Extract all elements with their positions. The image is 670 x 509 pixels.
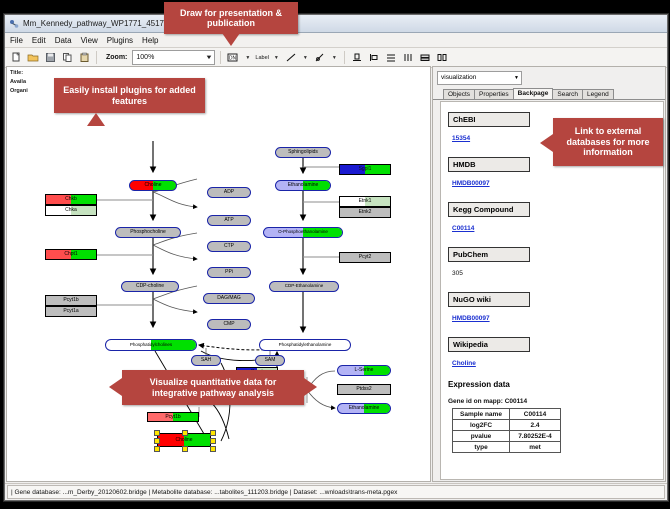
section-pubchem-title: PubChem	[448, 247, 530, 262]
tab-search[interactable]: Search	[552, 89, 583, 99]
menu-item-plugins[interactable]: Plugins	[107, 36, 133, 45]
label-tool-label[interactable]: Label	[255, 55, 268, 61]
zoom-label: Zoom:	[106, 54, 127, 61]
resize-handle-nw[interactable]	[154, 430, 160, 436]
expression-table: Sample name C00114 log2FC 2.4 pvalue 7.8…	[452, 408, 561, 453]
menu-item-file[interactable]: File	[10, 36, 23, 45]
node-etnk1[interactable]: Etnk1	[339, 196, 391, 207]
section-hmdb-title: HMDB	[448, 157, 530, 172]
node-cmp[interactable]: CMP	[207, 319, 251, 330]
side-tabs: Objects Properties Backpage Search Legen…	[433, 86, 665, 100]
node-phosphocholine[interactable]: Phosphocholine	[115, 227, 181, 238]
node-ethanolamine-top[interactable]: Ethanolamine	[275, 180, 331, 191]
expression-data-heading: Expression data	[448, 380, 663, 389]
tab-legend[interactable]: Legend	[582, 89, 614, 99]
menu-bar: File Edit Data View Plugins Help	[5, 33, 667, 48]
menu-item-edit[interactable]: Edit	[32, 36, 46, 45]
callout-links-arrow-left-icon	[540, 134, 553, 152]
node-dag-mag[interactable]: DAG/MAG	[203, 293, 255, 304]
node-adp[interactable]: ADP	[207, 187, 251, 198]
cell-value: 7.80252E-4	[510, 431, 561, 442]
section-chebi-link[interactable]: 15354	[452, 135, 470, 142]
table-row: type met	[453, 442, 561, 453]
pathvisio-icon	[9, 19, 19, 29]
distribute-horizontal-icon[interactable]	[401, 51, 415, 65]
node-pcyt1b[interactable]: Pcyt1b	[45, 295, 97, 306]
status-text: | Gene database: ...m_Derby_20120602.bri…	[7, 485, 665, 499]
section-nugo-title: NuGO wiki	[448, 292, 530, 307]
anchor-dropdown-icon[interactable]: ▼	[330, 51, 339, 64]
node-choline-top[interactable]: Choline	[129, 180, 177, 191]
callout-visualize: Visualize quantitative data for integrat…	[122, 370, 304, 405]
svg-text:DN: DN	[229, 56, 237, 62]
node-cdp-ethanolamine[interactable]: CDP-Ethanolamine	[269, 281, 339, 292]
node-choline-selected[interactable]: Choline	[157, 433, 211, 447]
section-chebi-title: ChEBI	[448, 112, 530, 127]
new-file-icon[interactable]	[9, 51, 23, 65]
callout-plugins-arrow-up-icon	[87, 113, 105, 126]
callout-visualize-arrow-right-icon	[304, 378, 317, 396]
resize-handle-e[interactable]	[210, 438, 216, 444]
node-sam[interactable]: SAM	[255, 355, 285, 366]
node-sgpl1[interactable]: Sgpl1	[339, 164, 391, 175]
paste-icon[interactable]	[77, 51, 91, 65]
zoom-value: 100%	[136, 54, 154, 61]
toolbar-separator-3	[344, 51, 345, 64]
cell-value: met	[510, 442, 561, 453]
node-cdp-choline[interactable]: CDP-choline	[121, 281, 179, 292]
save-icon[interactable]	[43, 51, 57, 65]
node-ptdss2[interactable]: Ptdss2	[337, 384, 391, 395]
menu-item-data[interactable]: Data	[55, 36, 72, 45]
pathvisio-window: Mm_Kennedy_pathway_WP1771_45176.gpml Fil…	[4, 14, 668, 501]
node-l-serine-right[interactable]: L-Serine	[337, 365, 391, 376]
node-atp[interactable]: ATP	[207, 215, 251, 226]
visualization-row: visualization ▼	[433, 67, 665, 86]
resize-handle-n[interactable]	[182, 430, 188, 436]
node-sah[interactable]: SAH	[191, 355, 221, 366]
section-kegg-link[interactable]: C00114	[452, 225, 474, 232]
resize-handle-ne[interactable]	[210, 430, 216, 436]
open-folder-icon[interactable]	[26, 51, 40, 65]
node-phosphatidylethanolamine[interactable]: Phosphatidylethanolamine	[259, 339, 351, 351]
menu-item-view[interactable]: View	[81, 36, 98, 45]
node-o-phosphoethanolamine[interactable]: O-Phosphoethanolamine	[263, 227, 343, 238]
tab-properties[interactable]: Properties	[474, 89, 514, 99]
align-left-icon[interactable]	[367, 51, 381, 65]
datanode-icon[interactable]: DN	[226, 51, 240, 65]
line-dropdown-icon[interactable]: ▼	[301, 51, 310, 64]
chevron-down-icon: ▼	[514, 75, 519, 81]
cell-value: C00114	[510, 409, 561, 420]
node-pcyt2[interactable]: Pcyt2	[339, 252, 391, 263]
node-chpt1[interactable]: Chpt1	[45, 249, 97, 260]
node-etnk2[interactable]: Etnk2	[339, 207, 391, 218]
cell-key: type	[453, 442, 510, 453]
line-icon[interactable]	[284, 51, 298, 65]
cell-key: log2FC	[453, 420, 510, 431]
chevron-down-icon: ▼	[206, 55, 214, 61]
resize-handle-w[interactable]	[154, 438, 160, 444]
copy-icon[interactable]	[60, 51, 74, 65]
group-icon[interactable]	[435, 51, 449, 65]
distribute-vertical-icon[interactable]	[384, 51, 398, 65]
cell-value: 2.4	[510, 420, 561, 431]
tab-backpage[interactable]: Backpage	[513, 88, 554, 99]
section-hmdb-link[interactable]: HMDB00097	[452, 180, 490, 187]
node-pcyt1a[interactable]: Pcyt1a	[45, 306, 97, 317]
datanode-dropdown-icon[interactable]: ▼	[243, 51, 252, 64]
tab-objects[interactable]: Objects	[443, 89, 475, 99]
zoom-combo[interactable]: 100% ▼	[132, 50, 215, 65]
callout-draw-arrow-down-icon	[222, 33, 240, 46]
node-ethanolamine-bottom[interactable]: Ethanolamine	[337, 403, 391, 414]
section-pubchem-value: 305	[452, 270, 463, 277]
table-row: Sample name C00114	[453, 409, 561, 420]
pathway-canvas[interactable]: Title: Availa Organi	[6, 66, 431, 482]
callout-plugins: Easily install plugins for added feature…	[54, 78, 205, 113]
app-root: Mm_Kennedy_pathway_WP1771_45176.gpml Fil…	[0, 0, 670, 509]
node-ctp[interactable]: CTP	[207, 241, 251, 252]
status-bar: | Gene database: ...m_Derby_20120602.bri…	[5, 483, 667, 500]
resize-handle-se[interactable]	[210, 446, 216, 452]
toolbar-separator	[96, 51, 97, 64]
gene-id-line: Gene id on mapp: C00114	[448, 398, 663, 405]
cell-key: Sample name	[453, 409, 510, 420]
node-sphingolipids[interactable]: Sphingolipids	[275, 147, 331, 158]
node-chka[interactable]: Chka	[45, 205, 97, 216]
section-wikipedia-link[interactable]: Choline	[452, 360, 476, 367]
node-chkb[interactable]: Chkb	[45, 194, 97, 205]
table-row: pvalue 7.80252E-4	[453, 431, 561, 442]
visualization-select[interactable]: visualization ▼	[437, 71, 522, 85]
toolbar-separator-2	[220, 51, 221, 64]
callout-links: Link to external databases for more info…	[553, 118, 663, 166]
node-pcyt1b-2[interactable]: Pcyt1b	[147, 412, 199, 422]
label-dropdown-icon[interactable]: ▼	[272, 51, 281, 64]
section-wikipedia-title: Wikipedia	[448, 337, 530, 352]
stack-icon[interactable]	[418, 51, 432, 65]
callout-visualize-arrow-left-icon	[109, 378, 122, 396]
resize-handle-s[interactable]	[182, 446, 188, 452]
resize-handle-sw[interactable]	[154, 446, 160, 452]
table-row: log2FC 2.4	[453, 420, 561, 431]
visualization-value: visualization	[441, 74, 476, 81]
cell-key: pvalue	[453, 431, 510, 442]
section-nugo-link[interactable]: HMDB00097	[452, 315, 490, 322]
menu-item-help[interactable]: Help	[142, 36, 158, 45]
callout-draw: Draw for presentation & publication	[164, 2, 298, 34]
section-kegg-title: Kegg Compound	[448, 202, 530, 217]
anchor-icon[interactable]	[313, 51, 327, 65]
align-top-icon[interactable]	[350, 51, 364, 65]
node-ppi[interactable]: PPi	[207, 267, 251, 278]
node-phosphatidylcholines[interactable]: Phosphatidylcholines	[105, 339, 197, 351]
title-bar: Mm_Kennedy_pathway_WP1771_45176.gpml	[5, 15, 667, 33]
